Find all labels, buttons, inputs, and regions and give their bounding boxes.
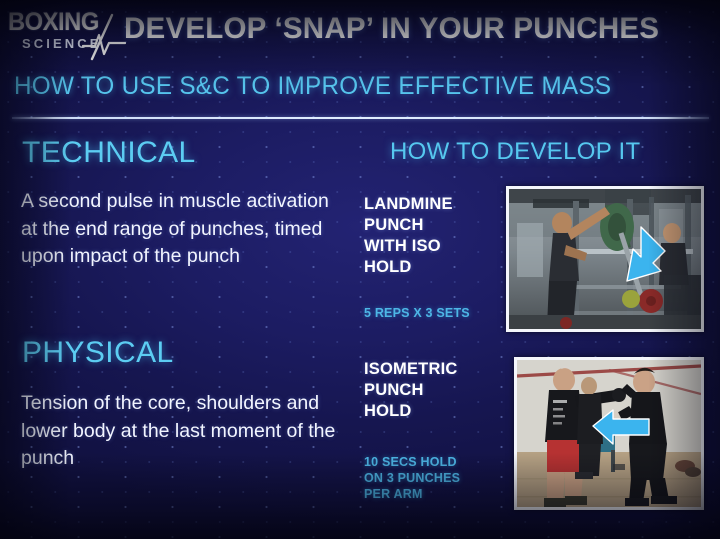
slide-canvas: BOXING SCIENCE DEVELOP ‘SNAP’ IN YOUR PU… bbox=[0, 0, 720, 539]
exercise-photo-isometric-punch-hold bbox=[514, 357, 704, 510]
exercise-label-isometric-punch-hold: ISOMETRICPUNCHHOLD bbox=[364, 359, 514, 422]
slide-header: BOXING SCIENCE DEVELOP ‘SNAP’ IN YOUR PU… bbox=[0, 0, 720, 64]
section-heading-physical: PHYSICAL bbox=[22, 336, 174, 370]
boxing-science-logo: BOXING SCIENCE bbox=[8, 9, 120, 57]
section-body-technical: A second pulse in muscle activation at t… bbox=[21, 188, 333, 271]
section-heading-how-to-develop-it: HOW TO DEVELOP IT bbox=[390, 138, 641, 166]
exercise-photo-landmine-punch bbox=[506, 186, 704, 332]
exercise-label-landmine-punch: LANDMINEPUNCHWITH ISOHOLD bbox=[364, 194, 514, 278]
section-body-physical: Tension of the core, shoulders and lower… bbox=[21, 390, 336, 473]
exercise-dose-isometric-punch-hold: 10 SECS HOLDON 3 PUNCHESPER ARM bbox=[364, 454, 524, 502]
section-heading-technical: TECHNICAL bbox=[22, 136, 196, 170]
header-divider bbox=[12, 117, 709, 119]
page-title: DEVELOP ‘SNAP’ IN YOUR PUNCHES bbox=[124, 12, 707, 46]
page-subtitle: HOW TO USE S&C TO IMPROVE EFFECTIVE MASS bbox=[14, 72, 611, 101]
heartbeat-pulse-icon bbox=[82, 13, 126, 61]
left-column: TECHNICAL A second pulse in muscle activ… bbox=[0, 124, 348, 534]
exercise-dose-landmine-punch: 5 REPS X 3 SETS bbox=[364, 305, 524, 321]
